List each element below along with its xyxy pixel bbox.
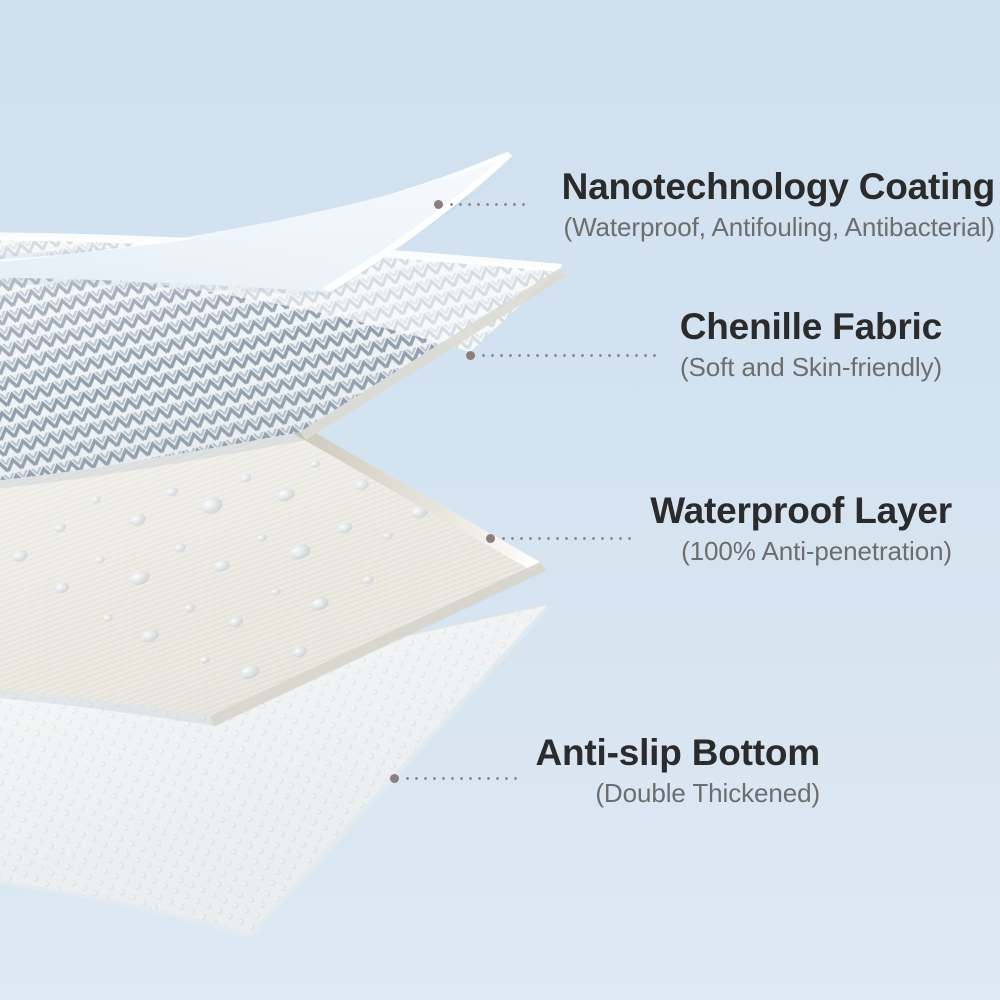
layer-title: Chenille Fabric (680, 308, 942, 345)
leader-knob-icon (390, 774, 399, 783)
layer-title: Nanotechnology Coating (562, 168, 995, 205)
layer-subtitle: (Double Thickened) (535, 780, 820, 806)
layer-subtitle: (Waterproof, Antifouling, Antibacterial) (562, 214, 995, 240)
layer-subtitle: (Soft and Skin-friendly) (680, 354, 942, 380)
leader-line-waterproof-layer (486, 532, 632, 544)
layer-title: Waterproof Layer (650, 492, 952, 529)
leader-dots (499, 537, 632, 540)
leader-line-nanotechnology-coating (434, 198, 530, 210)
leader-line-chenille-fabric (466, 349, 658, 361)
label-anti-slip-bottom: Anti-slip Bottom (Double Thickened) (535, 734, 820, 806)
label-chenille-fabric: Chenille Fabric (Soft and Skin-friendly) (680, 308, 942, 380)
label-nanotechnology-coating: Nanotechnology Coating (Waterproof, Anti… (562, 168, 995, 240)
leader-knob-icon (486, 534, 495, 543)
label-waterproof-layer: Waterproof Layer (100% Anti-penetration) (650, 492, 952, 564)
leader-line-anti-slip-bottom (390, 772, 523, 784)
layer-subtitle: (100% Anti-penetration) (650, 538, 952, 564)
layer-title: Anti-slip Bottom (535, 734, 820, 771)
leader-knob-icon (466, 351, 475, 360)
leader-dots (403, 777, 523, 780)
leader-dots (447, 203, 530, 206)
leader-dots (479, 354, 658, 357)
leader-knob-icon (434, 200, 443, 209)
product-layer-infographic: Nanotechnology Coating (Waterproof, Anti… (0, 0, 1000, 1000)
